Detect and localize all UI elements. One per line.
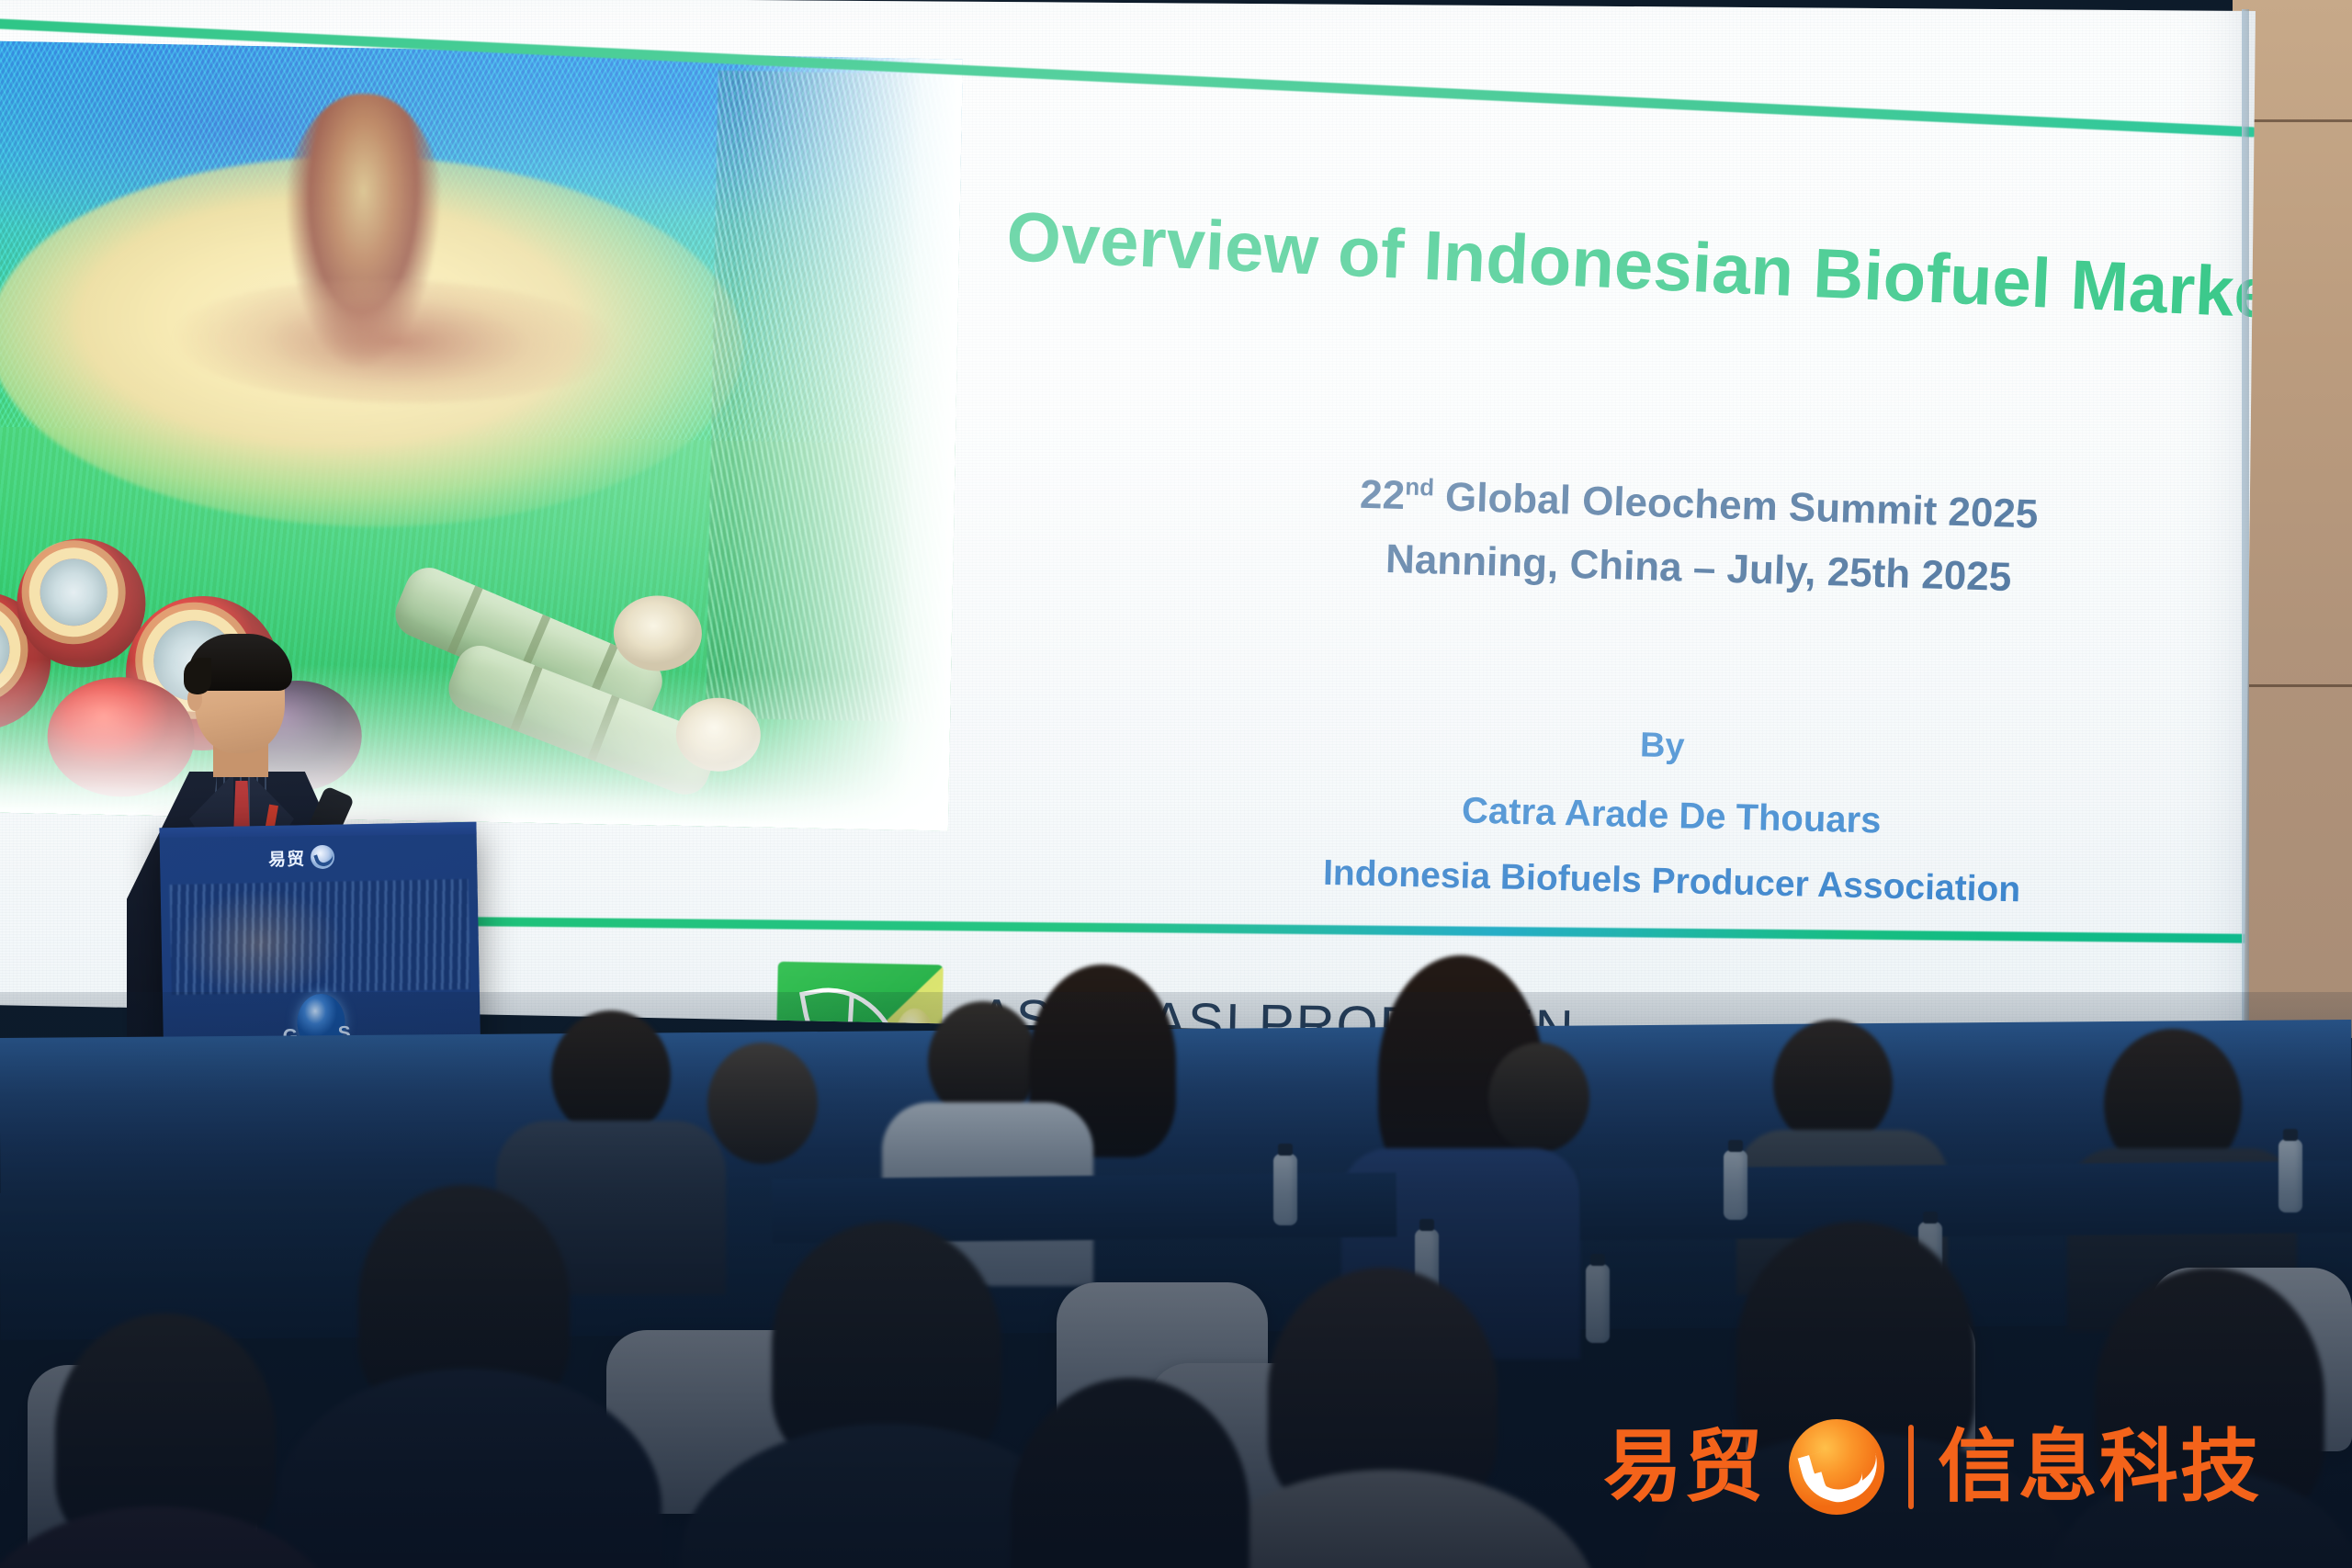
podium-photo-strip	[170, 879, 470, 995]
slide-organization: Indonesia Biofuels Producer Association	[1323, 853, 2021, 911]
slide-title: Overview of Indonesian Biofuel Market	[1005, 197, 2299, 335]
event-name: Global Oleochem Summit 2025	[1433, 474, 2039, 536]
watermark-divider	[1908, 1425, 1914, 1509]
watermark-left-text: 易贸	[1603, 1427, 1765, 1506]
slide-location-line: Nanning, China – July, 25th 2025	[1385, 536, 2012, 601]
wave-circle-logo-icon	[1789, 1419, 1884, 1515]
slide-by-label: By	[1639, 726, 1685, 766]
watermark-right-text: 信息科技	[1938, 1427, 2261, 1506]
wall-seam-upper	[2249, 119, 2352, 122]
wall-seam-lower	[2249, 684, 2352, 687]
screen-right-edge	[2242, 9, 2249, 1056]
wave-circle-logo-icon	[311, 845, 334, 869]
screenshot-stage: Overview of Indonesian Biofuel Market 22…	[0, 0, 2352, 1568]
slide-author-name: Catra Arade De Thouars	[1462, 790, 1882, 841]
watermark-logo: 易贸 信息科技	[1603, 1413, 2301, 1521]
event-number: 22	[1359, 472, 1405, 518]
podium-brand-text: 易贸	[268, 845, 306, 871]
slide-event-line: 22nd Global Oleochem Summit 2025	[1359, 471, 2039, 538]
podium-brand-logo: 易贸	[268, 840, 398, 874]
event-ordinal-suffix: nd	[1405, 473, 1435, 502]
speaker-hair	[187, 634, 292, 691]
